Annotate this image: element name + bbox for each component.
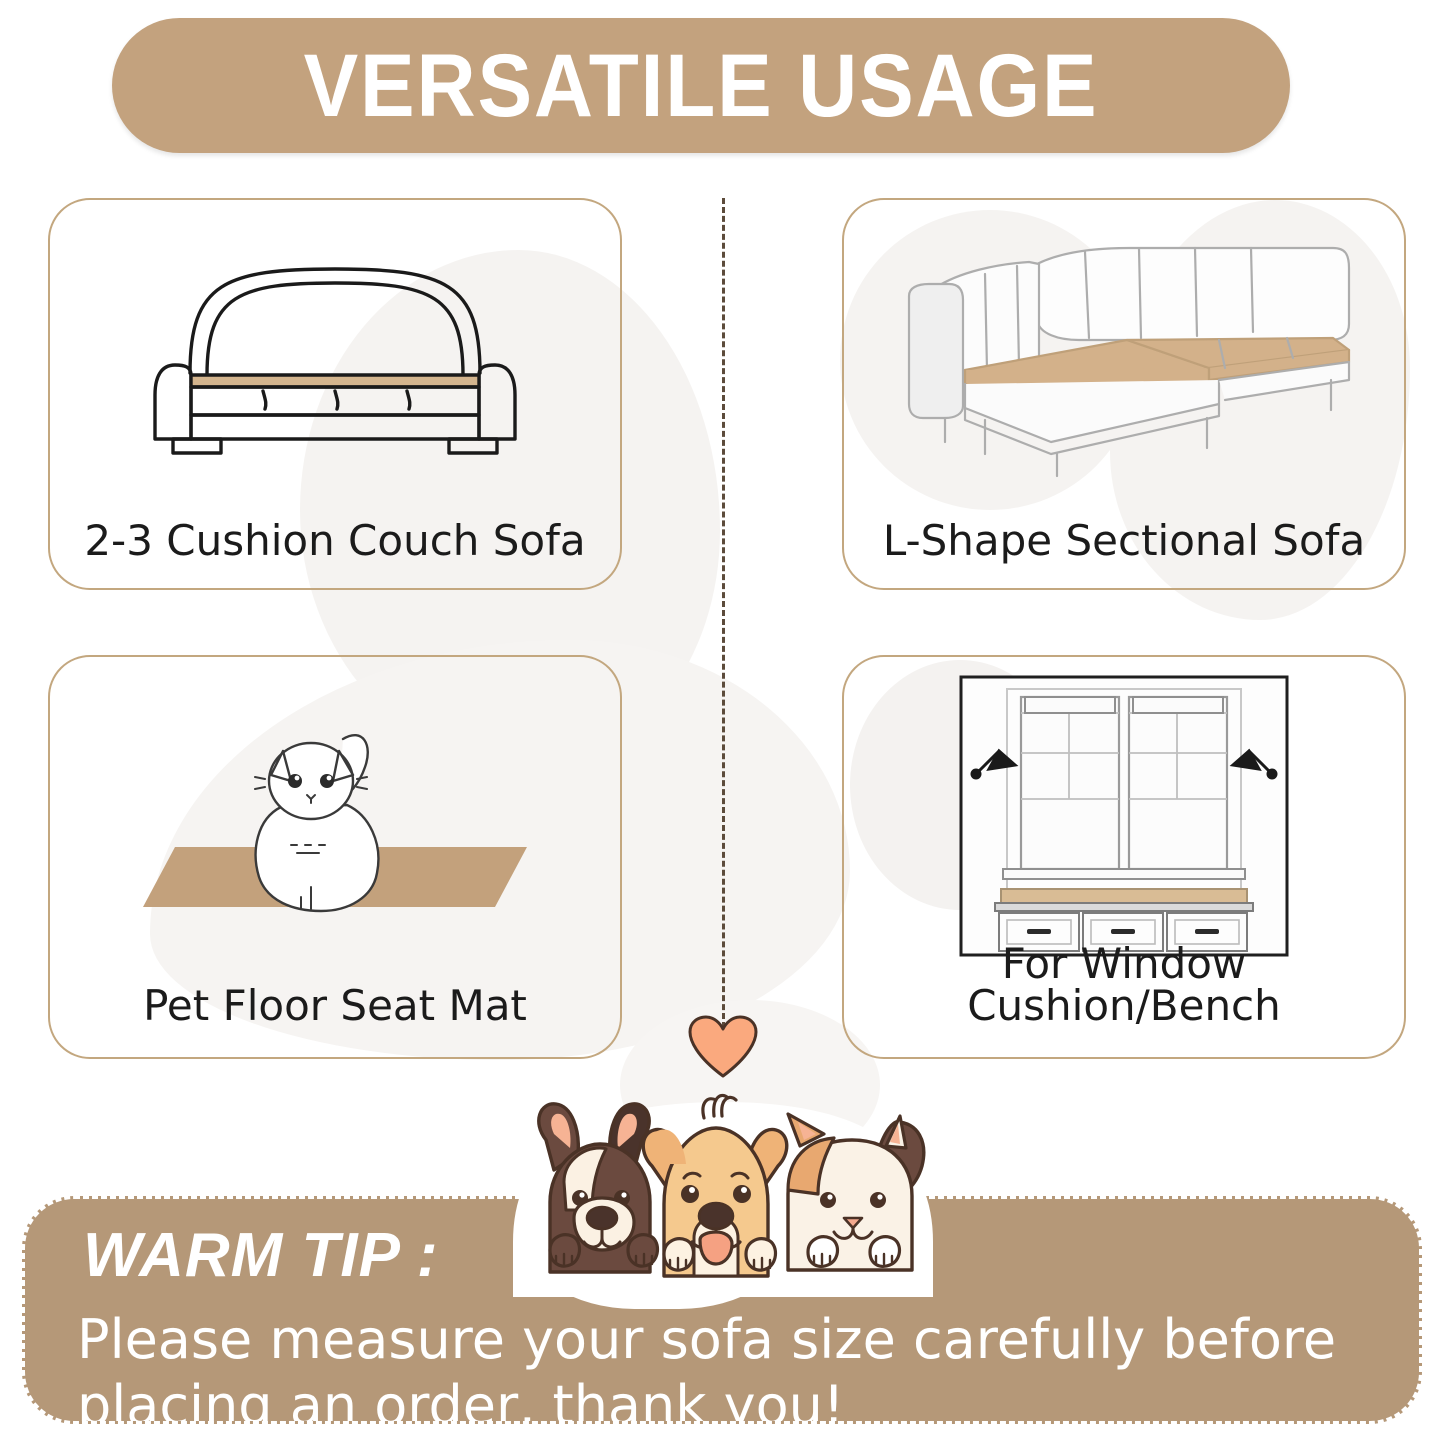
page-title: VERSATILE USAGE bbox=[304, 41, 1099, 130]
panel-couch-sofa[interactable]: 2-3 Cushion Couch Sofa bbox=[48, 198, 622, 590]
warm-tip-line-1: Please measure your sofa size carefully … bbox=[77, 1307, 1397, 1373]
heart-icon bbox=[686, 1014, 760, 1085]
header-banner: VERSATILE USAGE bbox=[112, 18, 1290, 153]
panel-label: For Window Cushion/Bench bbox=[844, 943, 1404, 1027]
panel-sectional-sofa[interactable]: L-Shape Sectional Sofa bbox=[842, 198, 1406, 590]
window-bench-icon bbox=[844, 671, 1404, 961]
panel-pet-floor-mat[interactable]: Pet Floor Seat Mat bbox=[48, 655, 622, 1059]
panel-label: 2-3 Cushion Couch Sofa bbox=[50, 520, 620, 562]
panel-label: Pet Floor Seat Mat bbox=[50, 985, 620, 1027]
l-shape-sectional-icon bbox=[844, 214, 1404, 492]
panel-label: L-Shape Sectional Sofa bbox=[844, 520, 1404, 562]
warm-tip-body: Please measure your sofa size carefully … bbox=[77, 1307, 1397, 1424]
panel-window-bench[interactable]: For Window Cushion/Bench bbox=[842, 655, 1406, 1059]
warm-tip-line-2: placing an order, thank you! bbox=[77, 1373, 1397, 1424]
warm-tip-heading: WARM TIP : bbox=[83, 1225, 439, 1287]
cat-on-mat-icon bbox=[50, 671, 620, 961]
sofa-front-icon bbox=[50, 214, 620, 492]
infographic-canvas: VERSATILE USAGE bbox=[0, 0, 1445, 1447]
pets-illustration bbox=[488, 1082, 958, 1297]
vertical-dashed-divider bbox=[722, 198, 725, 1028]
